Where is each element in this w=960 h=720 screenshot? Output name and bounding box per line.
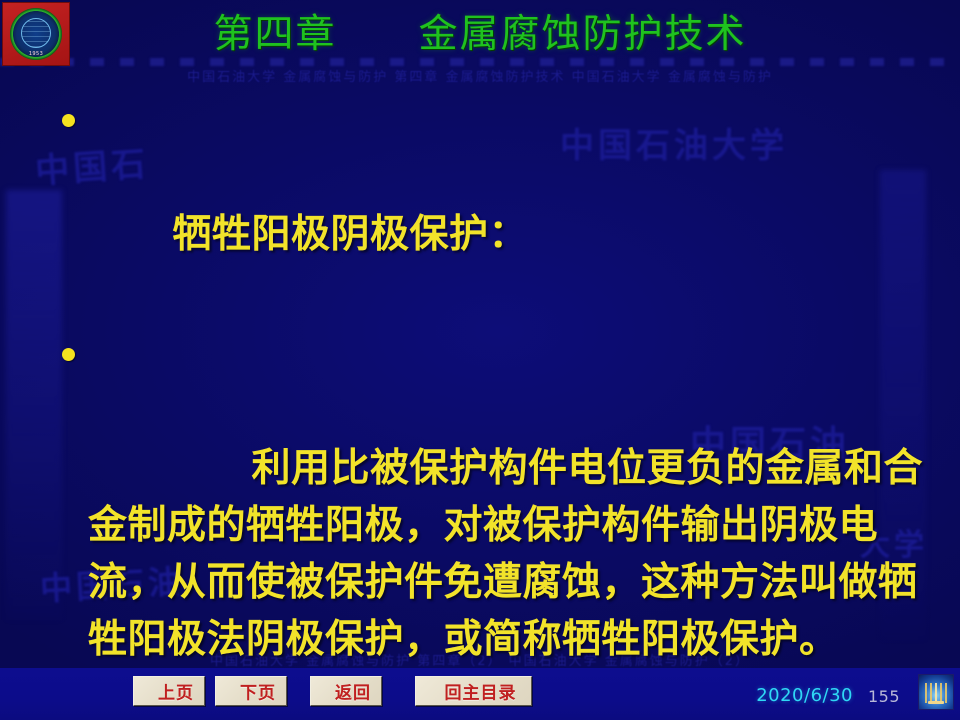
lamp-icon[interactable] [918, 674, 954, 710]
prev-page-label: 上页 [134, 679, 204, 704]
slide-date: 2020/6/30 [756, 685, 853, 706]
slide-body: 牺牲阳极阴极保护： 利用比被保护构件电位更负的金属和合金制成的牺牲阳极，对被保护… [0, 80, 960, 640]
lamp-glyph [925, 683, 947, 703]
main-menu-button[interactable]: 回主目录 [415, 676, 532, 706]
paragraph-text: 利用比被保护构件电位更负的金属和合金制成的牺牲阳极，对被保护构件输出阴极电流，从… [88, 446, 923, 662]
slide-header: 1953 第四章 金属腐蚀防护技术 [0, 0, 960, 66]
lamp-base [928, 701, 944, 704]
return-label: 返回 [311, 679, 381, 704]
main-menu-label: 回主目录 [416, 679, 531, 704]
return-button[interactable]: 返回 [310, 676, 382, 706]
bullet-paragraph: 利用比被保护构件电位更负的金属和合金制成的牺牲阳极，对被保护构件输出阴极电流，从… [0, 326, 960, 720]
page-title: 第四章 金属腐蚀防护技术 [0, 3, 960, 59]
bullet-icon [62, 114, 75, 127]
presentation-slide: 中国石油大学 金属腐蚀与防护 第四章 金属腐蚀防护技术 中国石油大学 金属腐蚀与… [0, 0, 960, 720]
slide-footer: 上页 下页 返回 回主目录 2020/6/30 155 [0, 668, 960, 720]
slide-page-number: 155 [868, 687, 900, 706]
prev-page-button[interactable]: 上页 [133, 676, 205, 706]
paragraph-text: 牺牲阳极阴极保护： [172, 212, 528, 257]
next-page-button[interactable]: 下页 [215, 676, 287, 706]
bullet-icon [62, 348, 75, 361]
next-page-label: 下页 [216, 679, 286, 704]
bullet-paragraph: 牺牲阳极阴极保护： [0, 92, 960, 320]
